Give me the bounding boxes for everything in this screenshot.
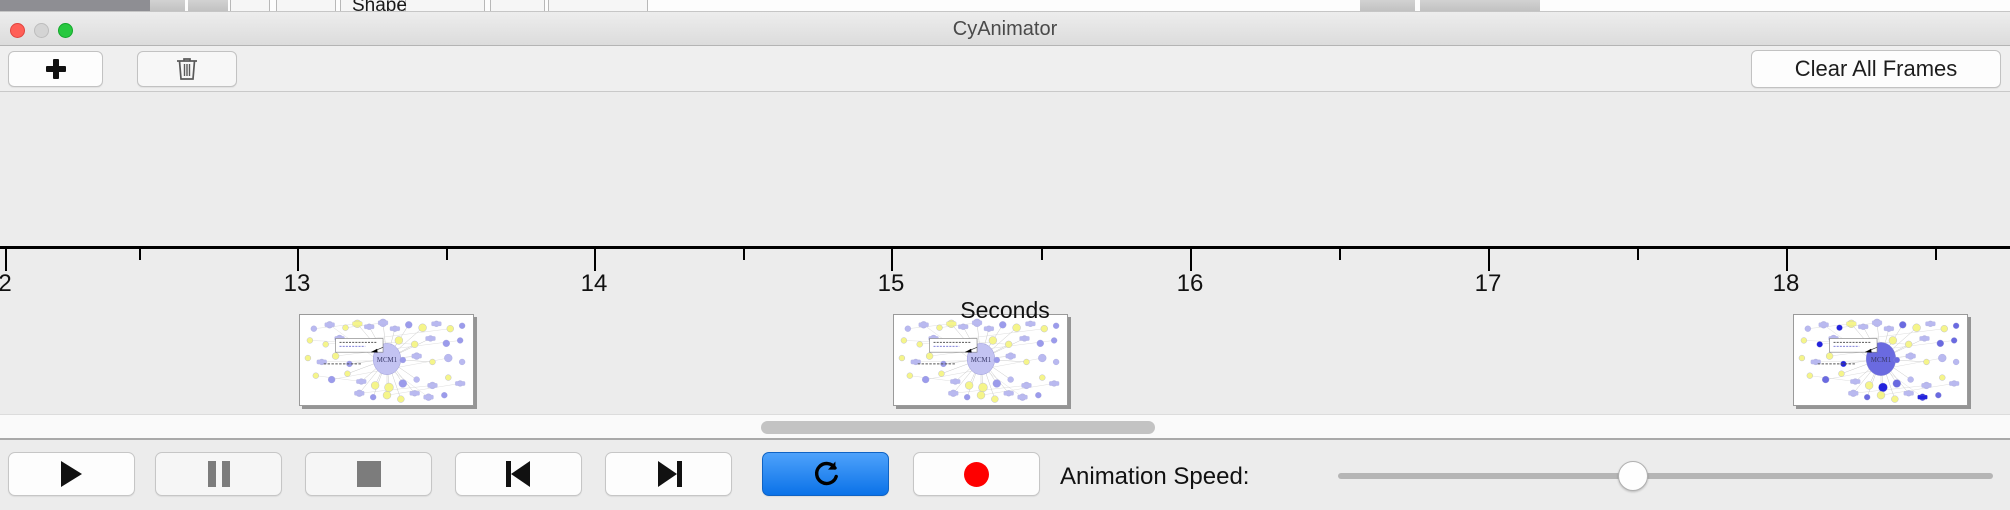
ruler-tick-minor [1637, 249, 1639, 260]
pause-icon [208, 461, 230, 487]
ruler-tick-major [1190, 249, 1192, 271]
ruler-tick-minor [1339, 249, 1341, 260]
network-thumbnail-graphic: MCM1 [1794, 315, 1967, 405]
ruler-tick-minor [139, 249, 141, 260]
pause-button[interactable] [155, 452, 282, 496]
network-thumbnail-graphic: MCM1 [894, 315, 1067, 405]
loop-icon [811, 459, 841, 489]
ruler-tick-minor [446, 249, 448, 260]
ruler-tick-label: 16 [1177, 270, 1204, 298]
plus-icon [46, 59, 66, 79]
window-title: CyAnimator [0, 12, 2010, 46]
ruler-tick-label: 17 [1475, 270, 1502, 298]
last-frame-button[interactable] [605, 452, 732, 496]
timeline-panel[interactable]: MCM1 MCM1 MCM1 21314151 [0, 92, 2010, 414]
record-icon [964, 462, 989, 487]
playback-control-bar: Animation Speed: [0, 442, 2010, 510]
ruler-tick-label: 13 [284, 270, 311, 298]
animation-speed-label: Animation Speed: [1060, 463, 1249, 491]
delete-frame-button[interactable] [137, 51, 237, 87]
animation-speed-slider-thumb[interactable] [1618, 461, 1648, 491]
frame-thumbnail-1[interactable]: MCM1 [299, 314, 474, 406]
stop-icon [357, 461, 381, 487]
ruler-tick-major [5, 249, 7, 271]
toolbar: Clear All Frames [0, 46, 2010, 92]
cyanimator-window: Shape CyAnimator Clear All Frames [0, 0, 2010, 510]
ruler-tick-minor [743, 249, 745, 260]
skip-back-icon [506, 461, 532, 487]
trash-icon [175, 56, 199, 82]
network-thumbnail-graphic: MCM1 [300, 315, 473, 405]
ruler-tick-label: 2 [0, 270, 12, 298]
ruler-tick-major [891, 249, 893, 271]
clear-all-frames-button[interactable]: Clear All Frames [1751, 50, 2001, 88]
timeline-scrollbar-thumb[interactable] [761, 421, 1155, 434]
skip-forward-icon [656, 461, 682, 487]
add-frame-button[interactable] [8, 51, 103, 87]
first-frame-button[interactable] [455, 452, 582, 496]
ruler-tick-major [1488, 249, 1490, 271]
ruler-axis-line [0, 246, 2010, 249]
record-button[interactable] [913, 452, 1040, 496]
timeline-scrollbar-track[interactable] [0, 414, 2010, 440]
background-window-label: Shape [352, 0, 407, 12]
svg-text:MCM1: MCM1 [971, 357, 992, 364]
play-icon [61, 461, 82, 487]
ruler-tick-major [297, 249, 299, 271]
loop-button[interactable] [762, 452, 889, 496]
frame-thumbnail-3[interactable]: MCM1 [1793, 314, 1968, 406]
ruler-tick-label: 14 [581, 270, 608, 298]
ruler-tick-label: 18 [1773, 270, 1800, 298]
frame-thumbnail-2[interactable]: MCM1 [893, 314, 1068, 406]
background-window-strip: Shape [0, 0, 2010, 12]
ruler-tick-minor [1935, 249, 1937, 260]
ruler-tick-major [594, 249, 596, 271]
ruler-tick-minor [1041, 249, 1043, 260]
ruler-tick-label: 15 [878, 270, 905, 298]
svg-text:MCM1: MCM1 [1871, 357, 1892, 364]
animation-speed-slider[interactable] [1338, 473, 1993, 479]
stop-button[interactable] [305, 452, 432, 496]
svg-text:MCM1: MCM1 [377, 357, 398, 364]
ruler-tick-major [1786, 249, 1788, 271]
title-bar: CyAnimator [0, 12, 2010, 46]
play-button[interactable] [8, 452, 135, 496]
